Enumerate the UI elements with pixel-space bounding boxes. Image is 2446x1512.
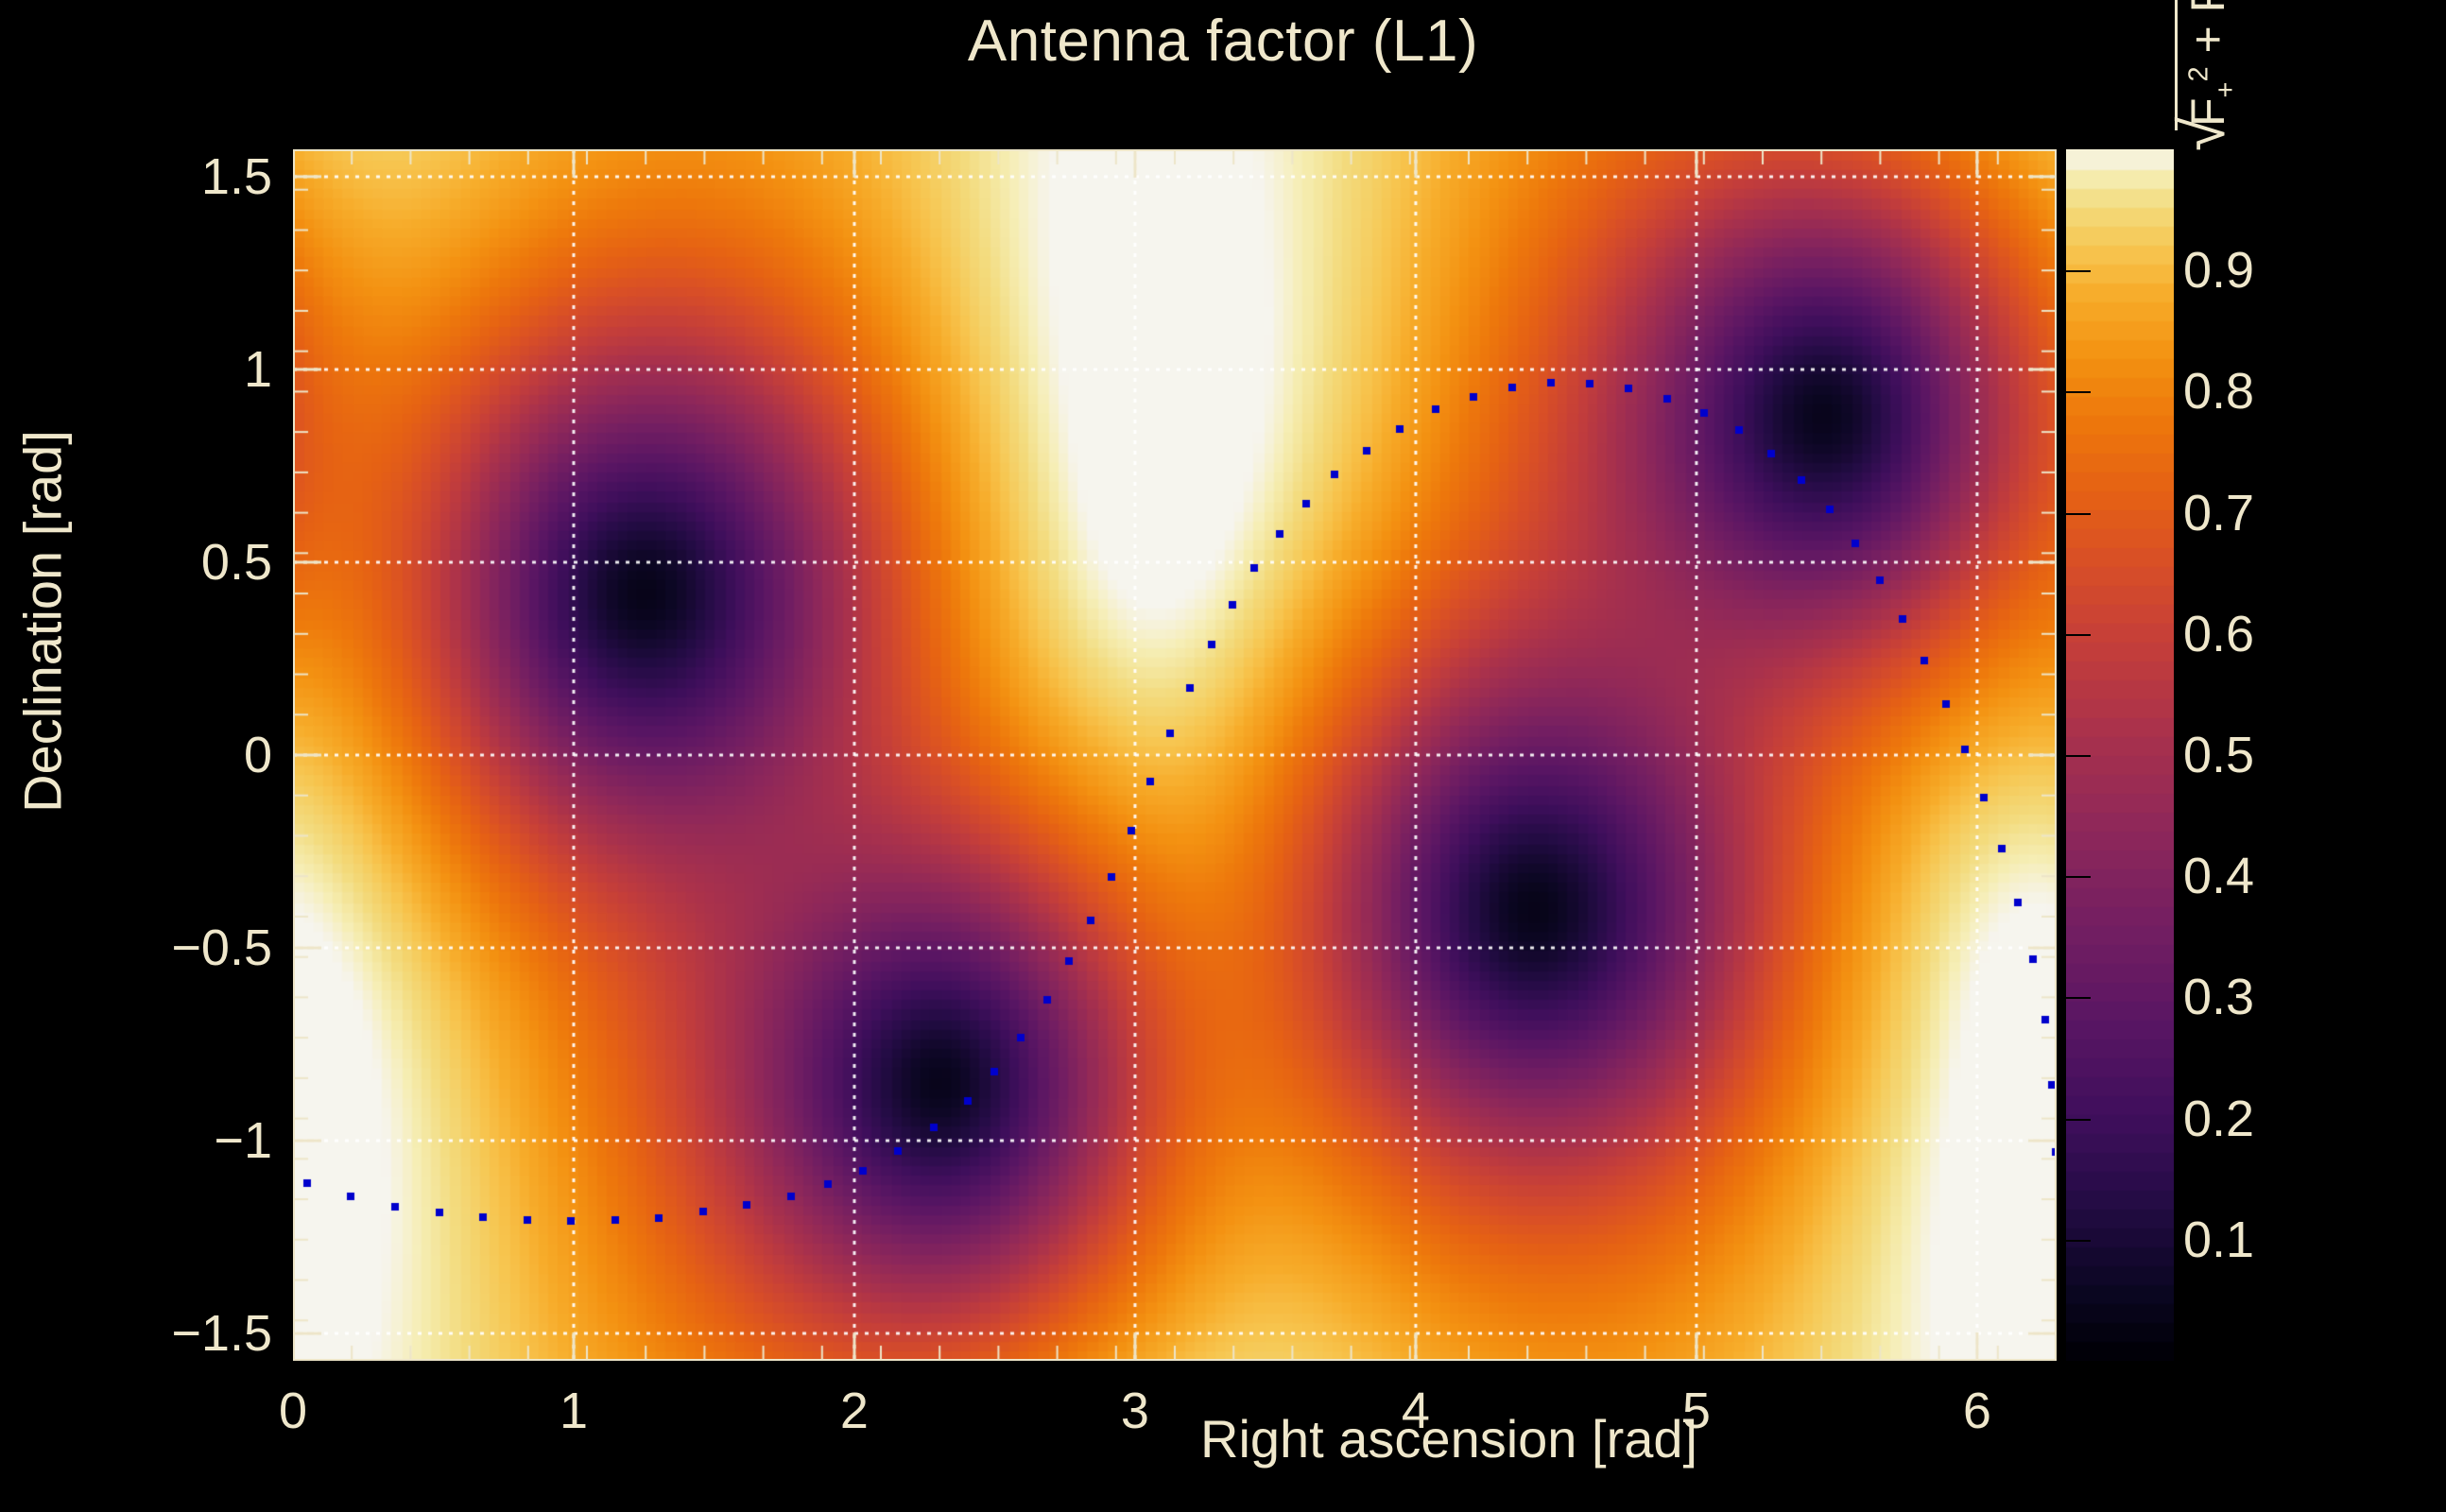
z-axis-formula: F+2 + F×2: [2179, 0, 2242, 127]
color-scale-tick-label: 0.7: [2183, 484, 2254, 542]
y-tick-label: 1: [244, 340, 272, 399]
color-scale-bar[interactable]: 0.10.20.30.40.50.60.70.80.9: [2066, 149, 2174, 1361]
color-scale-tick-label: 0.2: [2183, 1090, 2254, 1148]
color-scale-tick-label: 0.6: [2183, 605, 2254, 663]
x-tick-label: 2: [840, 1382, 869, 1440]
x-tick-label: 3: [1121, 1382, 1149, 1440]
y-tick-label: −1.5: [171, 1304, 272, 1363]
y-tick-label: 1.5: [201, 147, 272, 206]
y-tick-label: 0: [244, 726, 272, 784]
color-scale-tick-label: 0.9: [2183, 241, 2254, 300]
color-scale-tick-label: 0.1: [2183, 1211, 2254, 1269]
plot-canvas-root: Antenna factor (L1) Declination [rad] 1.…: [0, 0, 2446, 1512]
x-axis-title: Right ascension [rad]: [1200, 1408, 2051, 1469]
color-scale-gradient: [2066, 149, 2174, 1361]
color-scale-tick-label: 0.8: [2183, 362, 2254, 421]
y-tick-label: 0.5: [201, 533, 272, 592]
grid-and-curve-overlay: [293, 149, 2057, 1361]
sqrt-overbar: [2175, 0, 2178, 130]
z-axis-title: √ F+2 + F×2: [2179, 0, 2446, 151]
plot-area[interactable]: [293, 149, 2057, 1361]
y-tick-label: −0.5: [171, 919, 272, 977]
color-scale-tick-label: 0.4: [2183, 847, 2254, 905]
x-tick-label: 0: [279, 1382, 307, 1440]
color-scale-tick-label: 0.5: [2183, 726, 2254, 784]
color-scale-tick-label: 0.3: [2183, 968, 2254, 1026]
y-tick-label: −1: [214, 1111, 272, 1170]
x-tick-label: 1: [560, 1382, 588, 1440]
sqrt-icon: √: [2177, 117, 2228, 151]
